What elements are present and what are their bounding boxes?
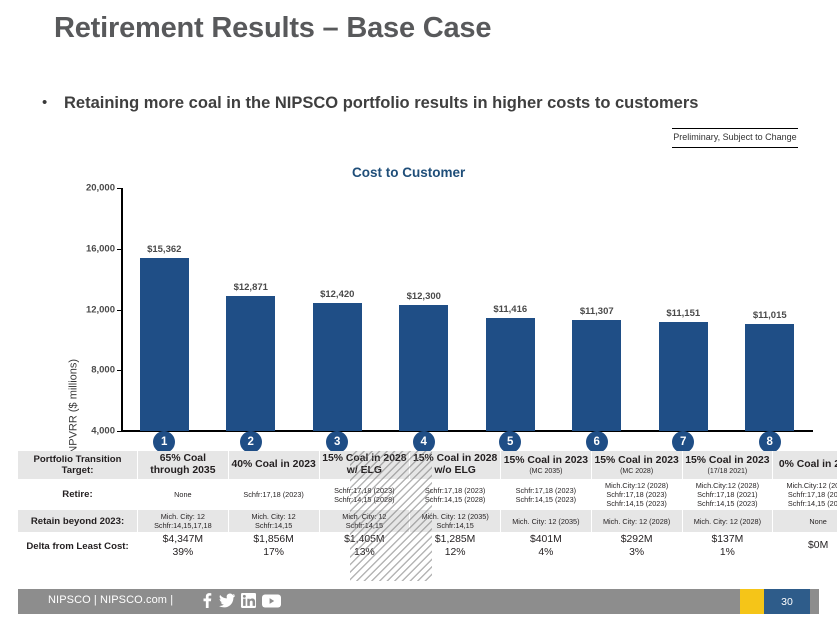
y-axis-tick-label: 20,000 [86,183,115,194]
social-icons [200,593,281,608]
table-cell-col-4: $1,285M12% [410,532,501,561]
table-cell-col-5: $401M4% [501,532,592,561]
bar-column: $12,420 [313,188,362,431]
table-cell-col-8: Mich.City:12 (2023)Schfr:17,18 (2023)Sch… [773,479,837,510]
y-axis-tick-mark [117,249,121,250]
table-cell-col-3: Mich. City: 12Schfr:14,15 [319,510,410,532]
row-retain: Retain beyond 2023:Mich. City: 12Schfr:1… [18,510,837,532]
row-label: Portfolio Transition Target: [18,451,138,479]
bar-value-label: $12,420 [320,289,354,300]
y-axis-tick-label: 12,000 [86,304,115,315]
row-retire: Retire:NoneSchfr:17,18 (2023)Schfr:17,18… [18,479,837,510]
bar[interactable] [572,320,621,431]
bar-column: $11,151 [659,188,708,431]
y-axis-tick-mark [117,188,121,189]
category-number-6[interactable]: 6 [586,431,608,453]
row-portfolio-target: Portfolio Transition Target:65% Coal thr… [18,451,837,479]
row-delta: Delta from Least Cost:$4,347M39%$1,856M1… [18,532,837,561]
table-cell-col-5: 15% Coal in 2023(MC 2035) [501,451,592,479]
bullet-item: • Retaining more coal in the NIPSCO port… [42,92,742,115]
bar[interactable] [486,318,535,431]
y-axis-tick-mark [117,370,121,371]
table-cell-col-5: Schfr:17,18 (2023)Schfr:14,15 (2023) [501,479,592,510]
bar[interactable] [399,305,448,431]
twitter-icon[interactable] [219,593,235,608]
bar[interactable] [226,296,275,431]
table-cell-col-3: 15% Coal in 2028 w/ ELG [319,451,410,479]
y-axis-tick-mark [117,310,121,311]
table-cell-col-2: 40% Coal in 2023 [228,451,319,479]
category-number-4[interactable]: 4 [413,431,435,453]
table-cell-col-2: Schfr:17,18 (2023) [228,479,319,510]
footer-bar: NIPSCO | NIPSCO.com | [18,589,819,614]
bar-value-label: $12,300 [407,291,441,302]
table-cell-col-4: Mich. City: 12 (2035)Schfr:14,15 [410,510,501,532]
y-axis-tick-label: 8,000 [91,365,115,376]
category-number-2[interactable]: 2 [240,431,262,453]
youtube-icon[interactable] [262,594,281,608]
category-number-7[interactable]: 7 [672,431,694,453]
portfolio-detail-table: Portfolio Transition Target:65% Coal thr… [18,451,837,561]
table-cell-col-1: 65% Coal through 2035 [138,451,229,479]
bullet-marker: • [42,92,64,114]
table-cell-col-5: Mich. City: 12 (2035) [501,510,592,532]
table-cell-col-6: Mich.City:12 (2028)Schfr:17,18 (2023)Sch… [591,479,682,510]
bar[interactable] [745,324,794,431]
bar-column: $11,307 [572,188,621,431]
bar[interactable] [140,258,189,431]
y-axis-tick-label: 16,000 [86,243,115,254]
table-cell-col-2: $1,856M17% [228,532,319,561]
category-number-8[interactable]: 8 [759,431,781,453]
bar-value-label: $11,307 [580,306,614,317]
table-cell-col-1: Mich. City: 12Schfr:14,15,17,18 [138,510,229,532]
table-cell-col-6: Mich. City: 12 (2028) [591,510,682,532]
slide: Retirement Results – Base Case • Retaini… [0,0,837,619]
table-cell-col-8: 0% Coal in 2023 [773,451,837,479]
row-label: Delta from Least Cost: [18,532,138,561]
chart-title: Cost to Customer [352,165,465,180]
category-number-3[interactable]: 3 [326,431,348,453]
plot-area: 4,0008,00012,00016,00020,000$15,362$12,8… [121,188,813,431]
bar-column: $11,416 [486,188,535,431]
bar-value-label: $11,151 [666,308,700,319]
bar-column: $11,015 [745,188,794,431]
bullet-text: Retaining more coal in the NIPSCO portfo… [64,92,724,115]
bar-column: $12,871 [226,188,275,431]
bar[interactable] [659,322,708,431]
category-number-1[interactable]: 1 [153,431,175,453]
table-cell-col-1: None [138,479,229,510]
bar-value-label: $11,416 [493,304,527,315]
table-cell-col-8: $0M [773,532,837,561]
bar-value-label: $11,015 [753,310,787,321]
table-cell-col-7: $137M1% [682,532,773,561]
table-cell-col-2: Mich. City: 12Schfr:14,15 [228,510,319,532]
table-cell-col-6: 15% Coal in 2023(MC 2028) [591,451,682,479]
table-cell-col-7: Mich.City:12 (2028)Schfr:17,18 (2021)Sch… [682,479,773,510]
table-cell-col-7: 15% Coal in 2023(17/18 2021) [682,451,773,479]
linkedin-icon[interactable] [241,593,256,608]
table-cell-col-7: Mich. City: 12 (2028) [682,510,773,532]
category-number-5[interactable]: 5 [499,431,521,453]
table-cell-col-3: $1,405M13% [319,532,410,561]
bar[interactable] [313,303,362,431]
footer-text: NIPSCO | NIPSCO.com | [48,594,173,606]
row-label: Retain beyond 2023: [18,510,138,532]
page-title: Retirement Results – Base Case [54,12,491,45]
table-cell-col-3: Schfr:17,18 (2023)Schfr:14,15 (2028) [319,479,410,510]
bar-column: $12,300 [399,188,448,431]
row-label: Retire: [18,479,138,510]
table-cell-col-4: Schfr:17,18 (2023)Schfr:14,15 (2028) [410,479,501,510]
table-cell-col-4: 15% Coal in 2028 w/o ELG [410,451,501,479]
table-cell-col-6: $292M3% [591,532,682,561]
bar-column: $15,362 [140,188,189,431]
y-axis-tick-label: 4,000 [91,426,115,437]
page-number: 30 [764,589,810,614]
bar-value-label: $12,871 [234,282,268,293]
bar-value-label: $15,362 [147,244,181,255]
table-cell-col-1: $4,347M39% [138,532,229,561]
footer-accent-block [740,589,764,614]
facebook-icon[interactable] [200,593,213,608]
preliminary-note: Preliminary, Subject to Change [672,128,798,148]
table-cell-col-8: None [773,510,837,532]
